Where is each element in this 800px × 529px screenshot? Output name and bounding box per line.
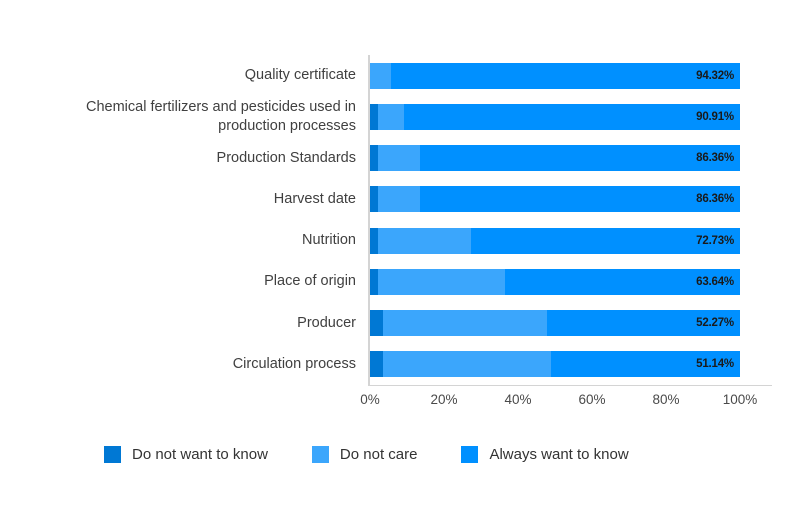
legend-label: Always want to know bbox=[489, 446, 628, 463]
x-axis-tick-label: 0% bbox=[360, 392, 380, 407]
legend-swatch-icon bbox=[461, 446, 478, 463]
category-label: Nutrition bbox=[0, 220, 356, 261]
legend-label: Do not care bbox=[340, 446, 418, 463]
category-label-text: Nutrition bbox=[302, 231, 356, 250]
category-label-text: Production Standards bbox=[217, 149, 356, 168]
category-label: Production Standards bbox=[0, 138, 356, 179]
bar-value-label: 86.36% bbox=[696, 152, 734, 164]
bar-row[interactable]: 63.64% bbox=[370, 269, 740, 295]
category-label: Chemical fertilizers and pesticides used… bbox=[0, 96, 356, 137]
category-label: Place of origin bbox=[0, 261, 356, 302]
category-label: Circulation process bbox=[0, 344, 356, 385]
x-axis-tick-labels: 0%20%40%60%80%100% bbox=[370, 392, 740, 414]
category-label-text: Place of origin bbox=[264, 272, 356, 291]
chart-legend: Do not want to knowDo not careAlways wan… bbox=[104, 446, 673, 463]
x-axis-tick-label: 40% bbox=[504, 392, 531, 407]
bar-segment[interactable]: 51.14% bbox=[551, 351, 740, 377]
bar-segment[interactable] bbox=[370, 186, 378, 212]
category-label-text: Producer bbox=[297, 314, 356, 333]
bar-segment[interactable] bbox=[378, 186, 420, 212]
bar-segment[interactable]: 86.36% bbox=[420, 186, 740, 212]
bar-segment[interactable]: 63.64% bbox=[505, 269, 740, 295]
legend-item[interactable]: Do not want to know bbox=[104, 446, 268, 463]
plot-area: 94.32%90.91%86.36%86.36%72.73%63.64%52.2… bbox=[370, 55, 740, 385]
bar-row[interactable]: 51.14% bbox=[370, 351, 740, 377]
bar-segment[interactable] bbox=[370, 269, 378, 295]
bar-row[interactable]: 94.32% bbox=[370, 63, 740, 89]
bar-row[interactable]: 90.91% bbox=[370, 104, 740, 130]
legend-swatch-icon bbox=[312, 446, 329, 463]
bar-segment[interactable] bbox=[370, 310, 383, 336]
category-label-text: Harvest date bbox=[274, 190, 356, 209]
bar-value-label: 94.32% bbox=[696, 70, 734, 82]
category-label-text: Quality certificate bbox=[245, 66, 356, 85]
bar-segment[interactable] bbox=[383, 310, 547, 336]
bar-value-label: 52.27% bbox=[696, 317, 734, 329]
bar-row[interactable]: 52.27% bbox=[370, 310, 740, 336]
bar-segment[interactable] bbox=[378, 104, 403, 130]
legend-swatch-icon bbox=[104, 446, 121, 463]
bar-value-label: 63.64% bbox=[696, 276, 734, 288]
bar-segment[interactable] bbox=[370, 145, 378, 171]
category-label: Harvest date bbox=[0, 179, 356, 220]
bar-segment[interactable]: 72.73% bbox=[471, 228, 740, 254]
bar-segment[interactable] bbox=[383, 351, 551, 377]
x-axis-line bbox=[368, 385, 772, 386]
stacked-bar-chart: Quality certificateChemical fertilizers … bbox=[0, 0, 800, 529]
bar-segment[interactable] bbox=[370, 351, 383, 377]
bar-value-label: 86.36% bbox=[696, 193, 734, 205]
bar-row[interactable]: 86.36% bbox=[370, 186, 740, 212]
legend-item[interactable]: Do not care bbox=[312, 446, 418, 463]
category-label-text: Chemical fertilizers and pesticides used… bbox=[86, 98, 356, 136]
bar-row[interactable]: 86.36% bbox=[370, 145, 740, 171]
x-axis-tick-label: 20% bbox=[430, 392, 457, 407]
x-axis-tick-label: 100% bbox=[723, 392, 758, 407]
legend-label: Do not want to know bbox=[132, 446, 268, 463]
x-axis-tick-label: 80% bbox=[652, 392, 679, 407]
bar-row[interactable]: 72.73% bbox=[370, 228, 740, 254]
bar-segment[interactable] bbox=[378, 145, 420, 171]
x-axis-tick-label: 60% bbox=[578, 392, 605, 407]
category-label: Producer bbox=[0, 303, 356, 344]
bar-segment[interactable] bbox=[370, 104, 378, 130]
bar-value-label: 90.91% bbox=[696, 111, 734, 123]
bar-segment[interactable] bbox=[370, 63, 391, 89]
category-label: Quality certificate bbox=[0, 55, 356, 96]
bar-segment[interactable]: 86.36% bbox=[420, 145, 740, 171]
legend-item[interactable]: Always want to know bbox=[461, 446, 628, 463]
bar-segment[interactable]: 94.32% bbox=[391, 63, 740, 89]
bar-segment[interactable] bbox=[378, 228, 471, 254]
bar-segment[interactable] bbox=[378, 269, 504, 295]
bar-value-label: 72.73% bbox=[696, 235, 734, 247]
bar-segment[interactable] bbox=[370, 228, 378, 254]
bar-value-label: 51.14% bbox=[696, 358, 734, 370]
bar-segment[interactable]: 52.27% bbox=[547, 310, 740, 336]
bar-segment[interactable]: 90.91% bbox=[404, 104, 740, 130]
category-axis-labels: Quality certificateChemical fertilizers … bbox=[0, 55, 356, 385]
category-label-text: Circulation process bbox=[233, 355, 356, 374]
